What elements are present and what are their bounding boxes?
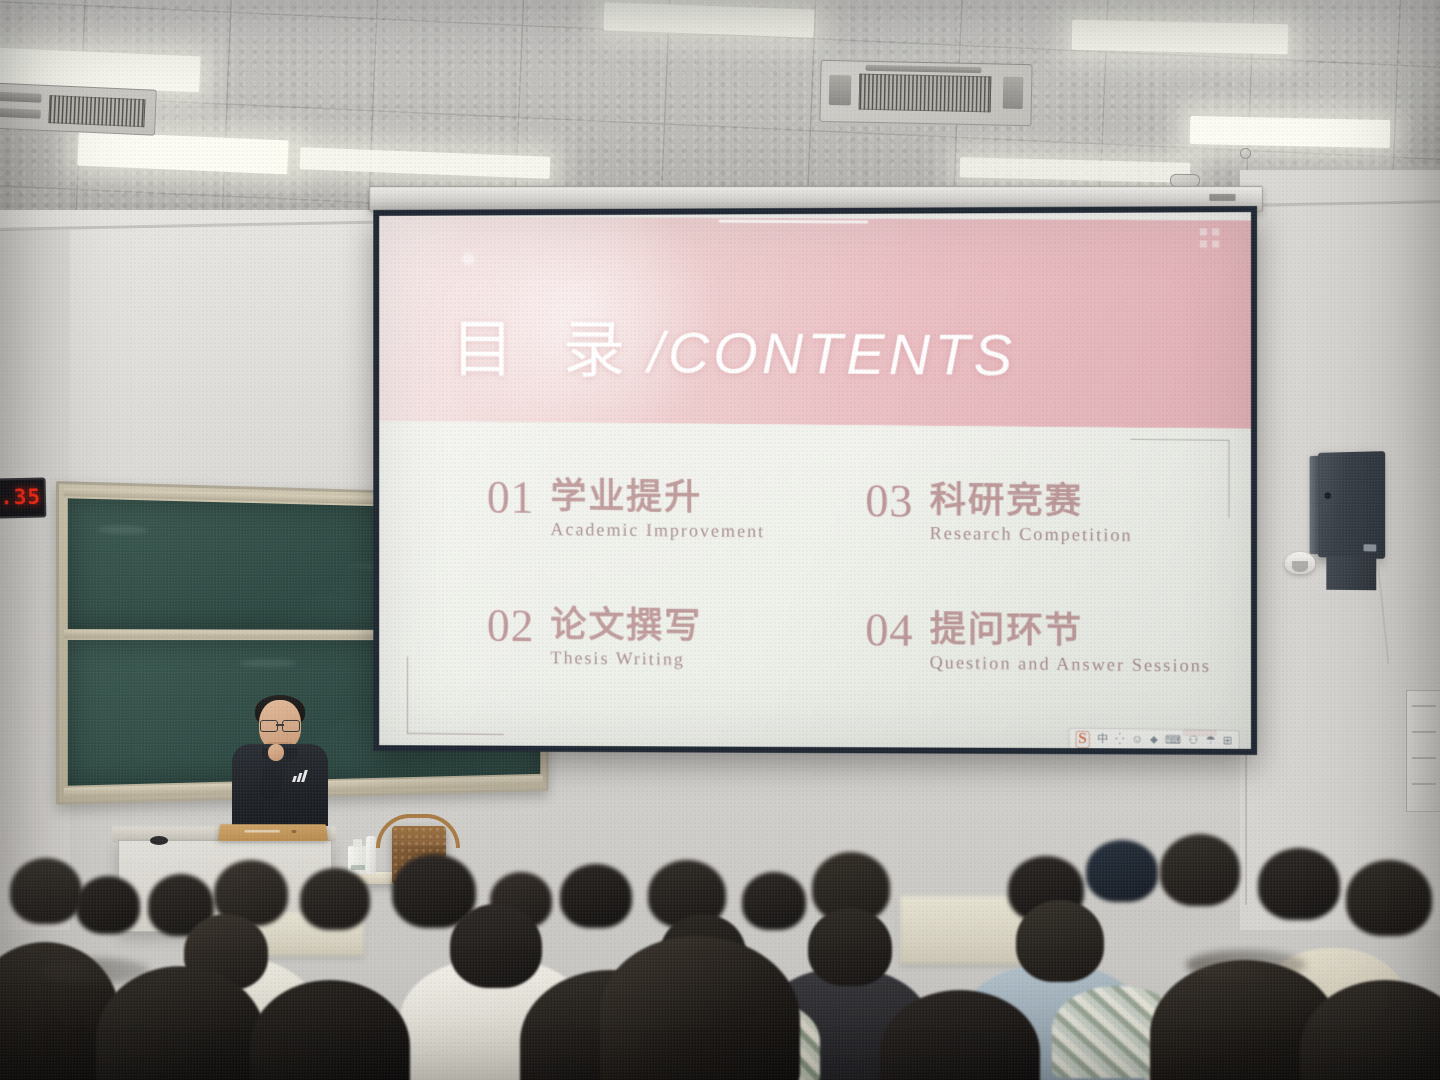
audience-head [1346,860,1432,936]
presenter [232,700,328,835]
item-title-cn: 学业提升 [551,475,766,518]
lecture-hall-photo: ...35 [0,0,1440,1080]
corner-bracket-bottom-left [407,656,504,734]
classroom-scene: ...35 [0,0,1440,1080]
audience-head [300,868,370,930]
ac-vent-slot [0,108,41,119]
slide-header-band: 目 录 /CONTENTS [379,216,1251,429]
header-dot-decoration-icon [462,253,473,264]
ac-grille [859,74,992,113]
ac-grille [48,95,145,127]
audience-head [1258,848,1340,920]
audience-head [560,864,632,928]
item-number: 01 [487,475,535,519]
item-title-en: Thesis Writing [551,648,702,671]
ime-umbrella-icon[interactable]: ☂ [1206,736,1216,747]
wall-speaker [1318,451,1385,559]
item-text: 论文撰写 Thesis Writing [551,604,702,670]
ime-mic-icon[interactable]: ⬥ [1150,735,1158,746]
contents-item-04: 04 提问环节 Question and Answer Sessions [865,608,1213,677]
audience-head [808,908,892,986]
contents-grid: 01 学业提升 Academic Improvement 03 科研竞赛 [487,475,1214,677]
panel-line [1412,783,1436,785]
slide-title-cn: 目 录 [451,299,642,392]
item-title-en: Research Competition [930,523,1133,546]
ceiling-sprinkler [1240,148,1251,159]
ime-language-mode-button[interactable]: 中 [1097,734,1108,745]
audience-head [450,904,542,988]
audience-head [10,858,82,924]
speaker-knob [1324,492,1331,499]
contents-item-02: 02 论文撰写 Thesis Writing [487,603,831,672]
sogou-ime-toolbar[interactable]: S 中 ⁛ ☺ ⬥ ⌨ ⚇ ☂ ⊞ [1068,727,1239,748]
ac-vent-slot [865,65,981,73]
security-camera-icon [1285,552,1315,574]
panel-line [1412,757,1436,759]
item-number: 04 [865,608,913,653]
speaker-logo-icon [1364,544,1377,551]
item-title-en: Question and Answer Sessions [930,652,1211,677]
contents-item-01: 01 学业提升 Academic Improvement [487,475,831,543]
item-title-en: Academic Improvement [551,519,766,542]
item-text: 学业提升 Academic Improvement [551,475,766,542]
panel-line [1412,705,1436,707]
item-title-cn: 科研竞赛 [930,479,1133,522]
wall-control-panel [1406,690,1440,812]
audience-head [1160,834,1240,906]
screen-brand-label [1209,194,1235,201]
audience-head [1086,840,1158,902]
chalk-smudge [240,659,297,667]
audience-head [76,876,140,934]
digital-wall-clock: ...35 [0,477,46,518]
presentation-slide: 目 录 /CONTENTS 01 学业提升 [379,216,1251,749]
audience-head [1016,900,1104,982]
item-title-cn: 论文撰写 [551,604,702,646]
ceiling-light-panel [1190,116,1391,148]
header-accent-strip [719,220,868,224]
contents-item-03: 03 科研竞赛 Research Competition [865,478,1213,547]
item-number: 03 [865,478,913,523]
slide-title-en: /CONTENTS [648,320,1016,389]
ime-grid-icon[interactable]: ⊞ [1223,736,1232,747]
projector-screen-surface: 目 录 /CONTENTS 01 学业提升 [379,212,1251,749]
slide-title: 目 录 /CONTENTS [451,299,1016,395]
presenter-hand [268,744,284,761]
audience-hair-strands [40,958,150,984]
ceiling-light-panel [1072,20,1289,55]
ac-vent-slot [829,75,852,105]
jacket-brand-logo-icon [293,770,309,782]
item-title-cn: 提问环节 [930,609,1211,653]
panel-line [1412,731,1436,733]
item-text: 科研竞赛 Research Competition [930,479,1133,546]
projector-screen-frame: 目 录 /CONTENTS 01 学业提升 [373,206,1257,755]
ac-vent-slot [0,92,42,103]
presenter-glasses-icon [260,720,300,730]
clock-display: ...35 [0,485,41,510]
ceiling-ac-unit [0,82,157,135]
item-number: 02 [487,603,535,647]
ime-punctuation-icon[interactable]: ⁛ [1115,735,1124,746]
slide-body: 01 学业提升 Academic Improvement 03 科研竞赛 [379,421,1251,749]
audience-head-front [600,936,800,1080]
header-grid-decoration-icon [1200,229,1220,249]
audience-head [742,872,806,930]
ceiling-ac-unit [819,60,1032,126]
audience-hair-strands [1186,950,1306,980]
audience [0,830,1440,1080]
ac-vent-slot [1003,77,1024,109]
speaker-mount-bracket [1326,556,1376,590]
ime-smiley-icon[interactable]: ☺ [1131,735,1142,746]
item-text: 提问环节 Question and Answer Sessions [930,609,1211,678]
chalk-smudge [97,525,147,535]
ime-person-icon[interactable]: ⚇ [1188,736,1198,747]
ime-keyboard-icon[interactable]: ⌨ [1165,735,1181,746]
speaker-side-panel [1310,456,1319,554]
sogou-logo-icon[interactable]: S [1075,731,1090,748]
